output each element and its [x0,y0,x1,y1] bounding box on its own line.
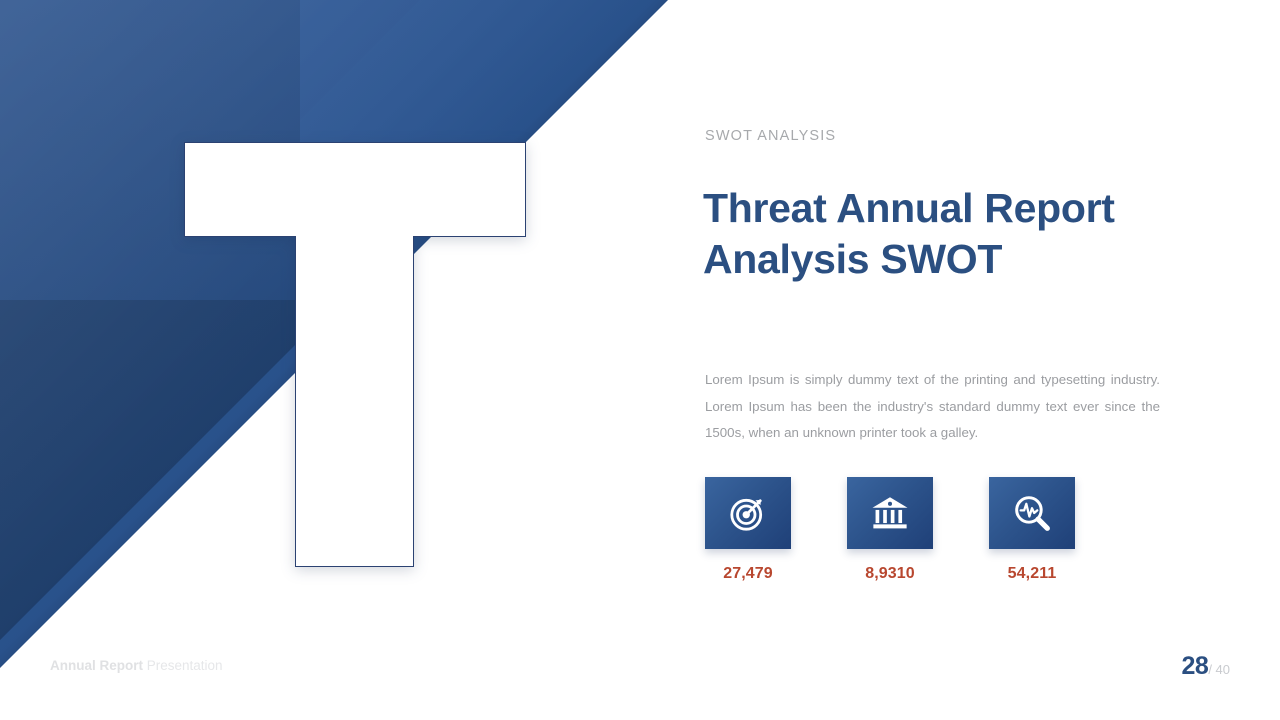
stat-item[interactable]: 8,9310 [847,477,933,583]
page-current: 28 [1182,652,1209,680]
stat-tile-bank[interactable] [847,477,933,549]
eyebrow-label: SWOT ANALYSIS [705,128,836,144]
footer-brand: Annual Report Presentation [50,658,223,673]
stat-value: 27,479 [723,565,773,583]
footer-brand-strong: Annual Report [50,658,143,673]
monogram-stem [295,236,414,567]
analytics-search-icon [1011,492,1053,534]
target-icon [727,492,769,534]
footer-brand-light: Presentation [147,658,223,673]
stat-item[interactable]: 27,479 [705,477,791,583]
stat-tile-analytics-search[interactable] [989,477,1075,549]
page-indicator: 28/ 40 [1182,652,1231,681]
stat-tile-group: 27,479 8,9310 [705,477,1175,583]
stat-item[interactable]: 54,211 [989,477,1075,583]
monogram-letter-t [184,142,526,567]
stat-value: 54,211 [1008,565,1057,583]
monogram-bar [184,142,526,237]
slide-content: SWOT ANALYSIS Threat Annual Report Analy… [705,0,1175,720]
stat-tile-target[interactable] [705,477,791,549]
body-paragraph: Lorem Ipsum is simply dummy text of the … [705,367,1160,447]
monogram-joint [296,230,413,242]
page-title: Threat Annual Report Analysis SWOT [703,183,1173,285]
bank-icon [869,492,911,534]
stat-value: 8,9310 [865,565,915,583]
page-total: / 40 [1208,662,1230,677]
